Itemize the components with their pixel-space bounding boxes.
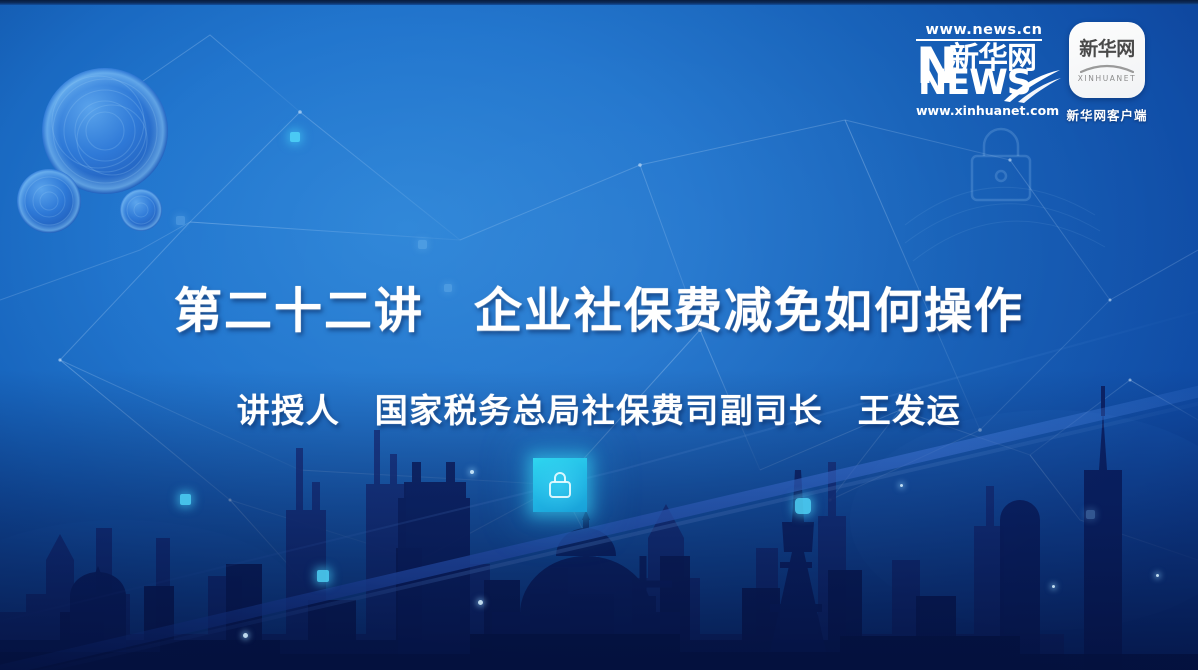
xinhua-app-badge[interactable]: 新华网 XINHUANET 新华网客户端 xyxy=(1068,22,1146,124)
swoosh-icon xyxy=(1002,67,1062,103)
glow-node xyxy=(290,132,300,142)
title-block: 第二十二讲 企业社保费减免如何操作 讲授人 国家税务总局社保费司副司长 王发运 xyxy=(0,282,1198,432)
glow-node xyxy=(180,494,191,505)
logo-wordmark: N NEWS 新华网 xyxy=(916,43,1042,103)
glow-node xyxy=(418,240,427,249)
glow-dot xyxy=(478,600,483,605)
glow-dot xyxy=(1156,574,1159,577)
logo-top-url: www.news.cn xyxy=(916,22,1052,38)
title-card-stage: www.news.cn N NEWS 新华网 www.xinhuanet.com… xyxy=(0,0,1198,670)
branding-row: www.news.cn N NEWS 新华网 www.xinhuanet.com… xyxy=(916,22,1146,126)
glow-node xyxy=(317,570,329,582)
logo-bottom-url: www.xinhuanet.com xyxy=(916,104,1052,118)
glow-dot xyxy=(1052,585,1055,588)
security-lock-tile xyxy=(533,458,587,512)
glow-dot xyxy=(470,470,474,474)
glow-node xyxy=(176,216,185,225)
glow-node xyxy=(795,498,811,514)
xinhua-news-logo[interactable]: www.news.cn N NEWS 新华网 www.xinhuanet.com xyxy=(916,22,1052,126)
top-edge-strip xyxy=(0,0,1198,5)
app-badge-caption: 新华网客户端 xyxy=(1067,105,1148,124)
app-icon-chinese-name: 新华网 xyxy=(1079,39,1135,59)
page-title: 第二十二讲 企业社保费减免如何操作 xyxy=(0,282,1198,340)
glow-node xyxy=(1086,510,1095,519)
glow-dot xyxy=(900,484,903,487)
app-icon[interactable]: 新华网 XINHUANET xyxy=(1069,22,1145,98)
arc-icon xyxy=(1080,62,1134,73)
presenter-line: 讲授人 国家税务总局社保费司副司长 王发运 xyxy=(0,390,1198,432)
app-icon-pinyin: XINHUANET xyxy=(1078,74,1137,83)
glow-dot xyxy=(243,633,248,638)
lock-icon xyxy=(546,470,574,500)
